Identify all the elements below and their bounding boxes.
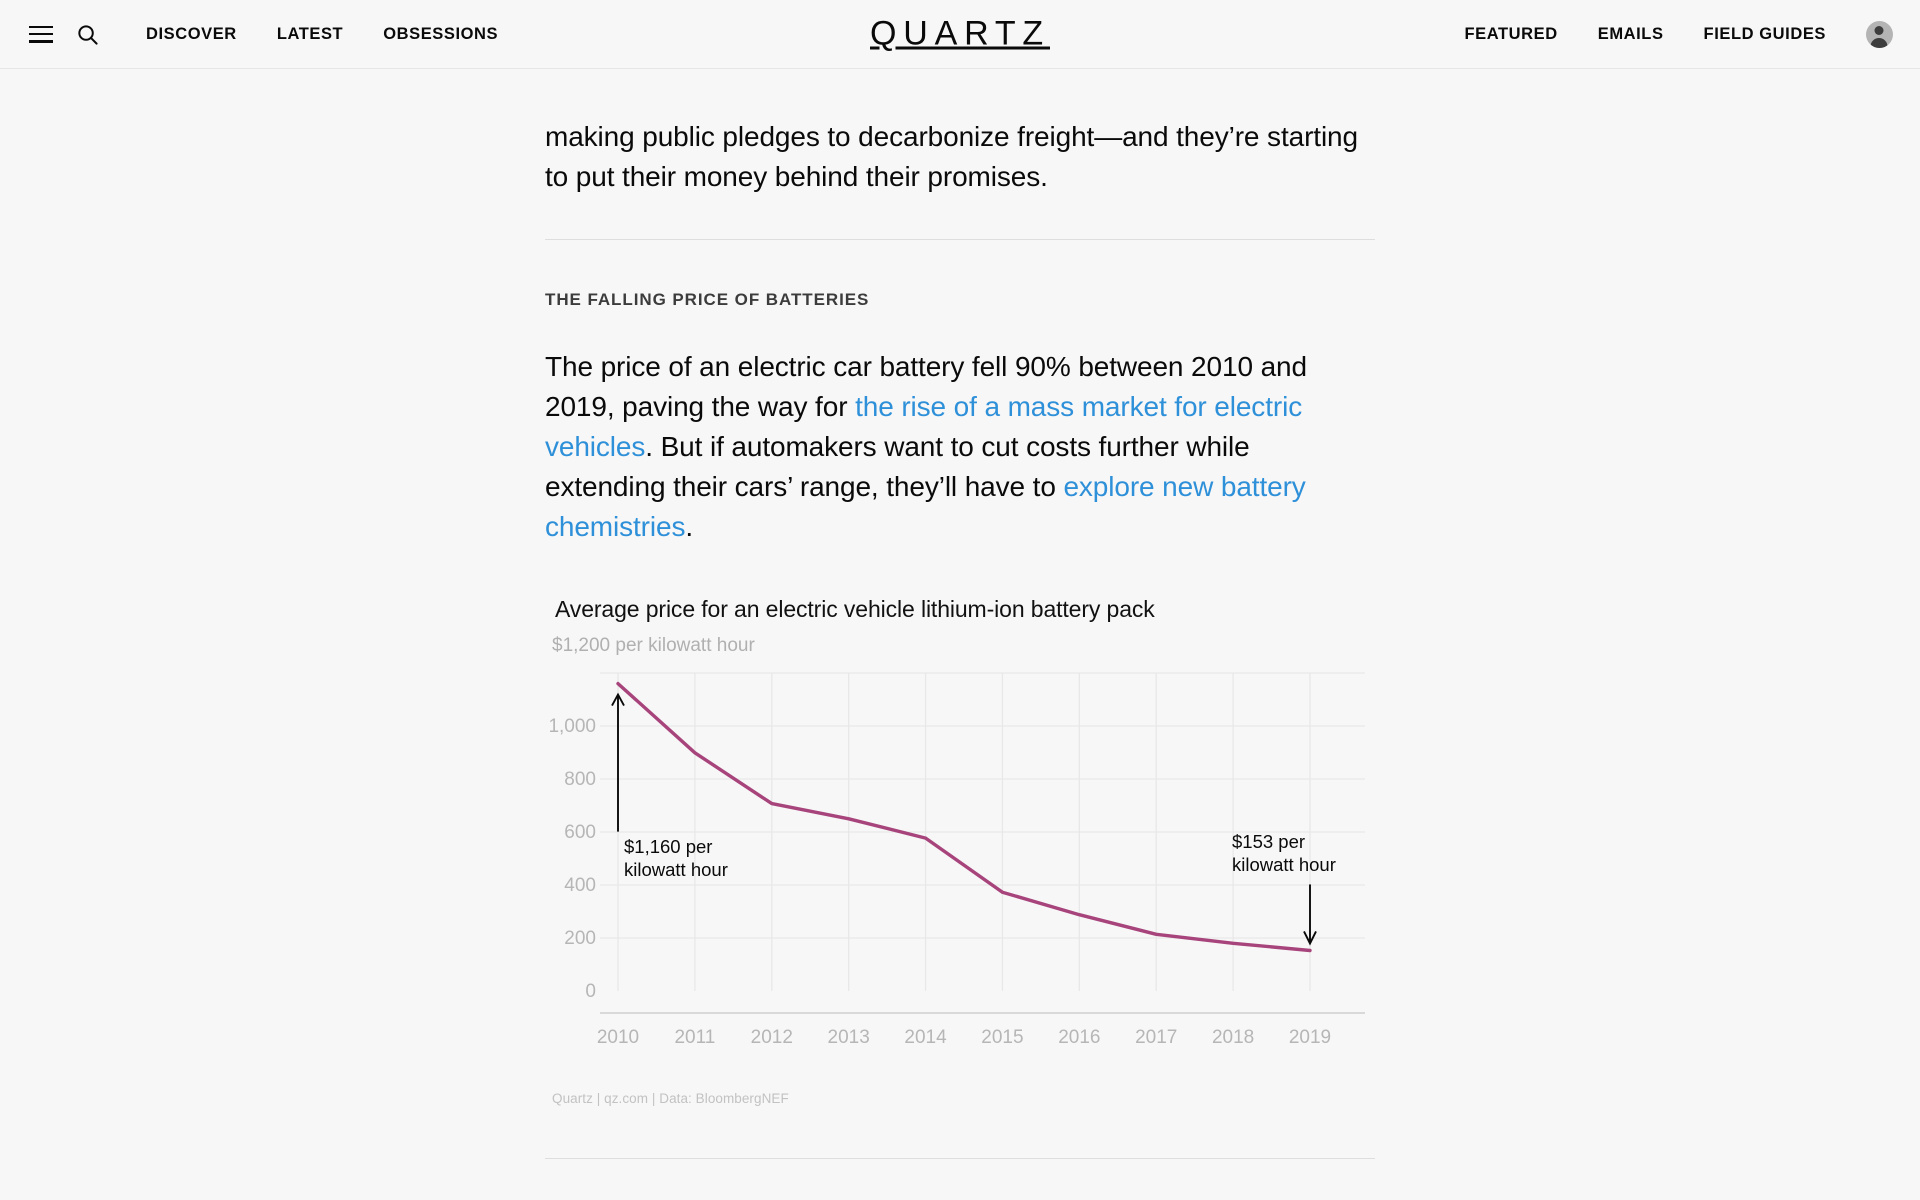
hamburger-icon[interactable] — [18, 11, 64, 57]
annotation-end-line1: $153 per — [1232, 830, 1336, 853]
annotation-start-line1: $1,160 per — [624, 835, 728, 858]
svg-text:600: 600 — [564, 822, 596, 843]
svg-text:400: 400 — [564, 875, 596, 896]
svg-text:2014: 2014 — [904, 1027, 947, 1048]
svg-text:2010: 2010 — [597, 1027, 639, 1048]
svg-text:800: 800 — [564, 769, 596, 790]
svg-text:2018: 2018 — [1212, 1027, 1254, 1048]
chart-unit-label: $1,200 per kilowatt hour — [552, 635, 1375, 657]
svg-text:2017: 2017 — [1135, 1027, 1177, 1048]
battery-price-chart: Average price for an electric vehicle li… — [545, 595, 1375, 1106]
article-body: making public pledges to decarbonize fre… — [545, 69, 1375, 1200]
svg-text:2019: 2019 — [1289, 1027, 1331, 1048]
svg-text:2013: 2013 — [828, 1027, 870, 1048]
intro-paragraph: making public pledges to decarbonize fre… — [545, 117, 1375, 197]
hamburger-glyph — [29, 26, 53, 43]
quartz-logo[interactable]: QUARTZ — [870, 15, 1050, 54]
avatar — [1866, 21, 1893, 48]
nav-link-latest[interactable]: LATEST — [257, 25, 363, 44]
section-divider-bottom — [545, 1158, 1375, 1159]
section-divider-top — [545, 239, 1375, 240]
site-header: DISCOVER LATEST OBSESSIONS QUARTZ FEATUR… — [0, 0, 1920, 69]
nav-link-obsessions[interactable]: OBSESSIONS — [363, 25, 518, 44]
svg-text:2011: 2011 — [674, 1027, 715, 1048]
section-kicker: THE FALLING PRICE OF BATTERIES — [545, 290, 1375, 310]
chart-plot-area: 02004006008001,0002010201120122013201420… — [550, 661, 1380, 1081]
annotation-end: $153 per kilowatt hour — [1232, 830, 1336, 876]
nav-link-field-guides[interactable]: FIELD GUIDES — [1684, 25, 1846, 44]
annotation-end-line2: kilowatt hour — [1232, 853, 1336, 876]
primary-nav: DISCOVER LATEST OBSESSIONS — [126, 25, 518, 44]
chart-title: Average price for an electric vehicle li… — [555, 595, 1375, 624]
annotation-start-line2: kilowatt hour — [624, 858, 728, 881]
nav-link-discover[interactable]: DISCOVER — [126, 25, 257, 44]
svg-text:2016: 2016 — [1058, 1027, 1100, 1048]
header-right-group: FEATURED EMAILS FIELD GUIDES — [1445, 13, 1920, 55]
paragraph-text-3: . — [685, 511, 693, 542]
svg-text:2012: 2012 — [751, 1027, 793, 1048]
svg-text:2015: 2015 — [981, 1027, 1023, 1048]
account-avatar-icon[interactable] — [1858, 13, 1900, 55]
search-glyph — [76, 23, 99, 46]
nav-link-featured[interactable]: FEATURED — [1445, 25, 1578, 44]
svg-text:200: 200 — [564, 928, 596, 949]
main-paragraph: The price of an electric car battery fel… — [545, 347, 1375, 547]
annotation-start: $1,160 per kilowatt hour — [624, 835, 728, 881]
search-icon[interactable] — [64, 11, 110, 57]
chart-source: Quartz | qz.com | Data: BloombergNEF — [552, 1091, 1375, 1106]
nav-link-emails[interactable]: EMAILS — [1578, 25, 1684, 44]
header-left-group: DISCOVER LATEST OBSESSIONS — [0, 11, 518, 57]
svg-text:1,000: 1,000 — [550, 716, 596, 737]
svg-text:0: 0 — [585, 981, 596, 1002]
